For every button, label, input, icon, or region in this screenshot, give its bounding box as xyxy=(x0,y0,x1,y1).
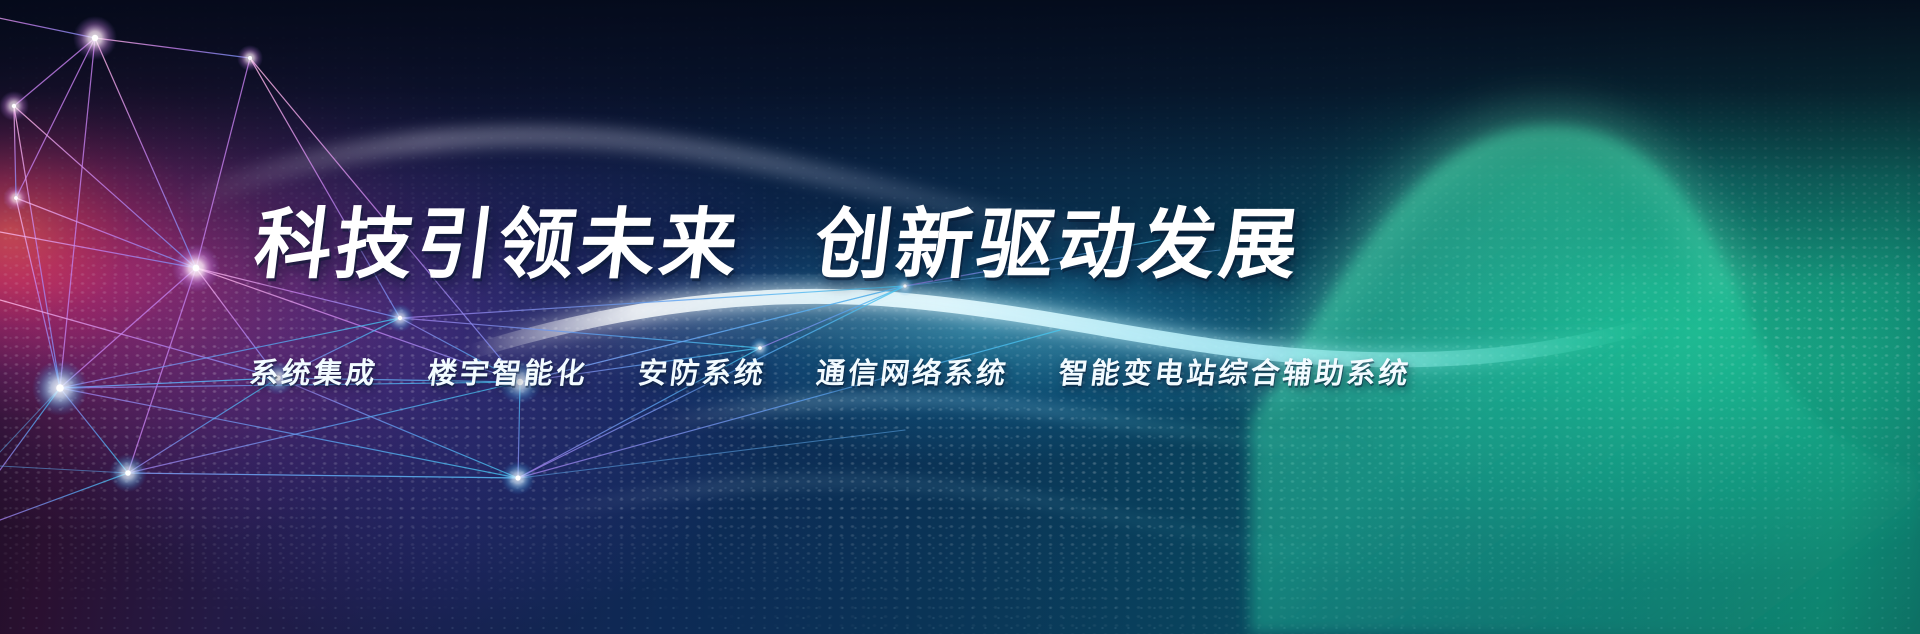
headline-segment-1: 科技引领未来 xyxy=(250,206,746,287)
subtitle: 系统集成 楼宇智能化 安防系统 通信网络系统 智能变电站综合辅助系统 xyxy=(247,350,1413,392)
subtitle-item-communication-network: 通信网络系统 xyxy=(814,356,1010,390)
subtitle-item-building-automation: 楼宇智能化 xyxy=(426,356,590,390)
subtitle-item-smart-substation: 智能变电站综合辅助系统 xyxy=(1057,356,1413,390)
subtitle-item-system-integration: 系统集成 xyxy=(248,356,380,390)
headline-segment-2: 创新驱动发展 xyxy=(810,206,1306,287)
subtitle-item-security-system: 安防系统 xyxy=(636,356,768,390)
banner-content: 科技引领未来 创新驱动发展 系统集成 楼宇智能化 安防系统 通信网络系统 智能变… xyxy=(0,0,1920,634)
headline: 科技引领未来 创新驱动发展 xyxy=(250,206,1306,287)
hero-banner: 科技引领未来 创新驱动发展 系统集成 楼宇智能化 安防系统 通信网络系统 智能变… xyxy=(0,0,1920,634)
